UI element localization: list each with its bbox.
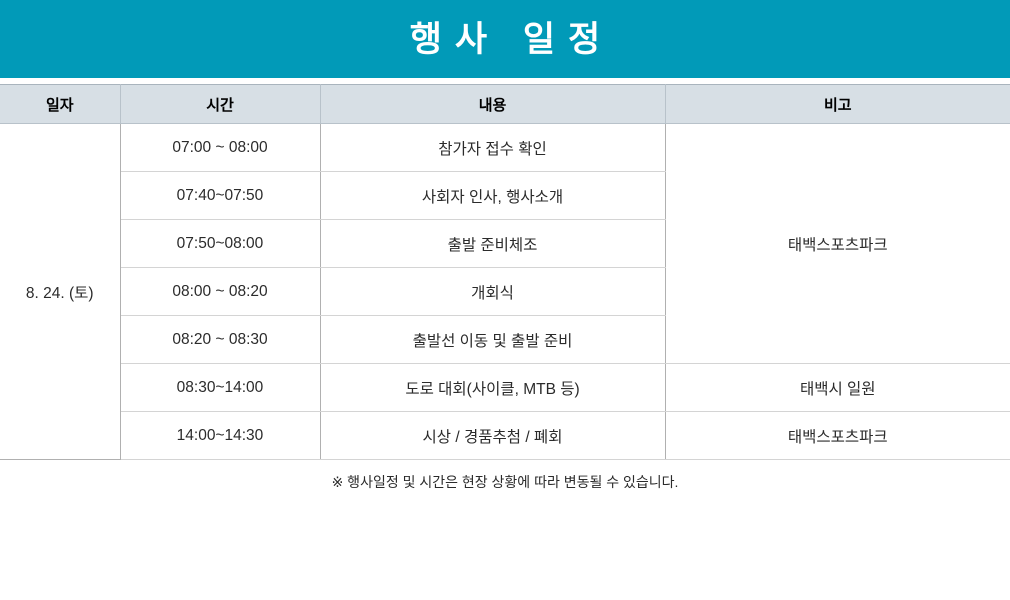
cell-content: 참가자 접수 확인 xyxy=(320,124,665,172)
cell-date: 8. 24. (토) xyxy=(0,124,120,460)
schedule-table-wrapper: 일자 시간 내용 비고 8. 24. (토) 07:00 ~ 08:00 참가자… xyxy=(0,78,1010,460)
cell-time: 07:40~07:50 xyxy=(120,172,320,220)
table-row: 8. 24. (토) 07:00 ~ 08:00 참가자 접수 확인 태백스포츠… xyxy=(0,124,1010,172)
column-header-remark: 비고 xyxy=(665,85,1010,124)
cell-content: 도로 대회(사이클, MTB 등) xyxy=(320,364,665,412)
cell-remark: 태백시 일원 xyxy=(665,364,1010,412)
table-body: 8. 24. (토) 07:00 ~ 08:00 참가자 접수 확인 태백스포츠… xyxy=(0,124,1010,460)
column-header-content: 내용 xyxy=(320,85,665,124)
table-row: 08:30~14:00 도로 대회(사이클, MTB 등) 태백시 일원 xyxy=(0,364,1010,412)
cell-time: 08:20 ~ 08:30 xyxy=(120,316,320,364)
cell-content: 출발선 이동 및 출발 준비 xyxy=(320,316,665,364)
cell-content: 개회식 xyxy=(320,268,665,316)
cell-time: 08:00 ~ 08:20 xyxy=(120,268,320,316)
table-header: 일자 시간 내용 비고 xyxy=(0,85,1010,124)
cell-time: 08:30~14:00 xyxy=(120,364,320,412)
cell-time: 14:00~14:30 xyxy=(120,412,320,460)
cell-remark: 태백스포츠파크 xyxy=(665,124,1010,364)
column-header-date: 일자 xyxy=(0,85,120,124)
cell-content: 시상 / 경품추첨 / 폐회 xyxy=(320,412,665,460)
cell-content: 사회자 인사, 행사소개 xyxy=(320,172,665,220)
table-header-row: 일자 시간 내용 비고 xyxy=(0,85,1010,124)
cell-time: 07:50~08:00 xyxy=(120,220,320,268)
cell-time: 07:00 ~ 08:00 xyxy=(120,124,320,172)
cell-remark: 태백스포츠파크 xyxy=(665,412,1010,460)
page-title: 행사 일정 xyxy=(397,22,614,57)
cell-content: 출발 준비체조 xyxy=(320,220,665,268)
event-schedule-page: 행사 일정 일자 시간 내용 비고 8. 24. (토) xyxy=(0,0,1010,600)
schedule-footnote: ※ 행사일정 및 시간은 현장 상황에 따라 변동될 수 있습니다. xyxy=(0,460,1010,492)
schedule-table: 일자 시간 내용 비고 8. 24. (토) 07:00 ~ 08:00 참가자… xyxy=(0,84,1010,460)
bottom-spacer xyxy=(0,492,1010,592)
page-title-banner: 행사 일정 xyxy=(0,0,1010,78)
table-row: 14:00~14:30 시상 / 경품추첨 / 폐회 태백스포츠파크 xyxy=(0,412,1010,460)
column-header-time: 시간 xyxy=(120,85,320,124)
